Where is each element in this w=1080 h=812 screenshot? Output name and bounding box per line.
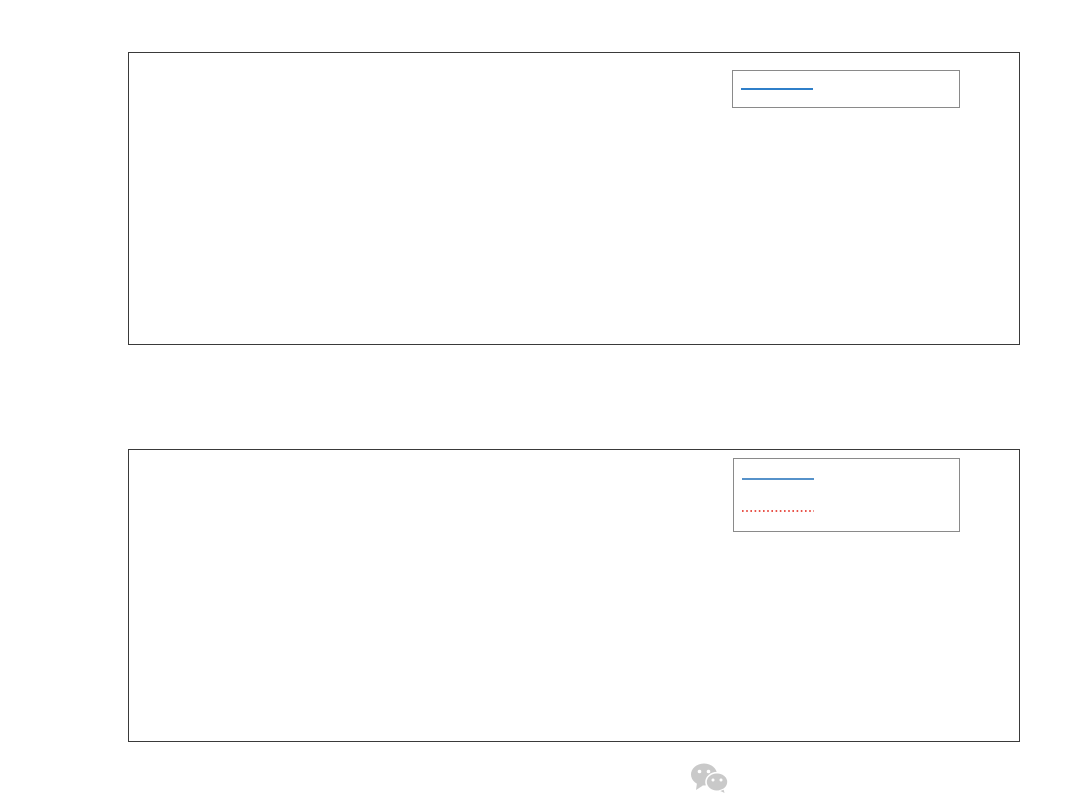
- wechat-icon: [690, 762, 730, 794]
- legend-noise-residue[interactable]: [732, 70, 960, 108]
- matlab-figure: [0, 0, 1080, 812]
- legend-dotted-sample: [741, 505, 815, 517]
- watermark: [690, 762, 740, 794]
- subplot-noise-residue: [0, 0, 1080, 420]
- legend-item[interactable]: [740, 76, 950, 102]
- legend-line-sample: [741, 473, 815, 485]
- legend-item[interactable]: [741, 464, 950, 494]
- legend-line-sample: [740, 83, 814, 95]
- legend-noise-control[interactable]: [733, 458, 960, 532]
- legend-item[interactable]: [741, 496, 950, 526]
- subplot-noise-control: [0, 420, 1080, 812]
